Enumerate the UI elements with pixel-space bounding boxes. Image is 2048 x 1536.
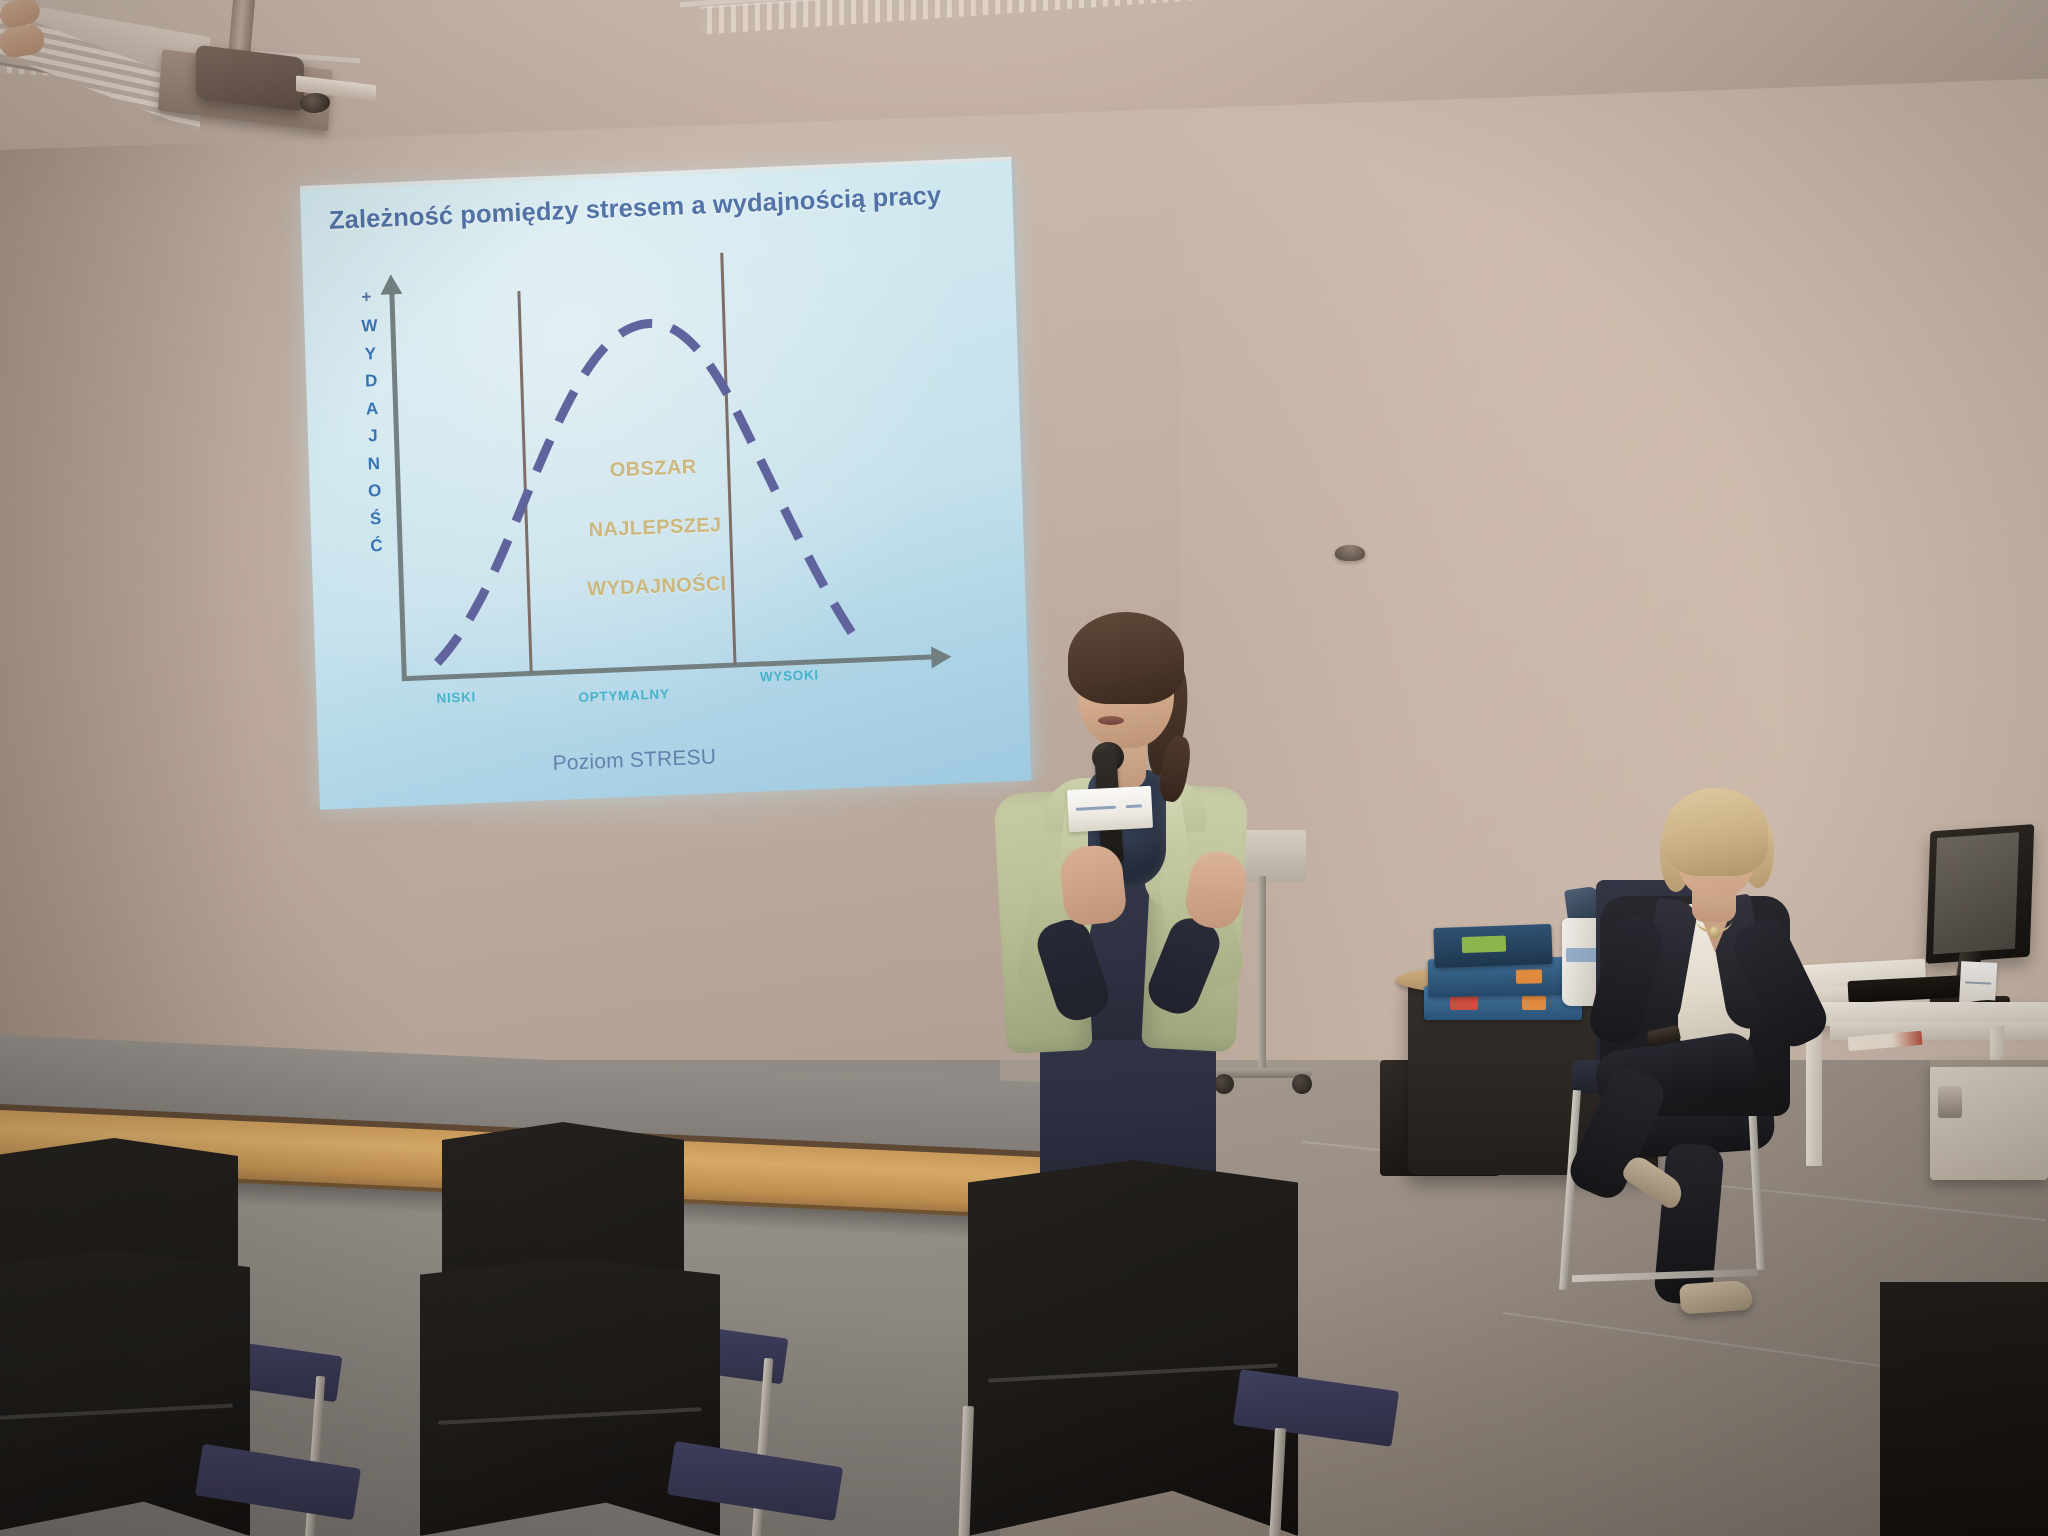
desk-leg-front: [1806, 1026, 1822, 1166]
audience-chair-front-left: [0, 1250, 250, 1536]
mic-flag-text-line-1: [1076, 806, 1116, 811]
x-tick-wysoki: WYSOKI: [760, 667, 819, 684]
trolley-wheel-right: [1292, 1074, 1312, 1094]
microphone-flag-card: [1067, 786, 1153, 832]
zone-line-1: NAJLEPSZEJ: [555, 513, 756, 544]
glove-box-orange-band-2: [1516, 969, 1542, 983]
flight-case-latch: [1938, 1086, 1962, 1118]
trolley-wheel-left: [1214, 1074, 1234, 1094]
seated-shoe-lower: [1679, 1280, 1753, 1315]
audience-chair-front-mid: [420, 1258, 720, 1536]
flight-case: [1930, 1060, 2048, 1180]
sanitizer-label: [1566, 948, 1600, 962]
monitor-screen: [1933, 832, 2019, 954]
glove-box-green-band: [1462, 936, 1507, 954]
flight-case-edge: [1930, 1060, 2048, 1067]
stress-performance-chart: + W Y D A J N O Ś Ć OBSZAR: [347, 248, 1001, 714]
x-tick-niski: NISKI: [436, 689, 476, 706]
black-counter-right: [1880, 1282, 2048, 1536]
smoke-detector: [1335, 545, 1365, 561]
glove-box-orange-band: [1522, 996, 1546, 1010]
presenter-mouth: [1098, 716, 1124, 725]
audience-chair-center: [968, 1160, 1298, 1536]
mic-flag-text-line-2: [1126, 804, 1142, 808]
name-card-text-line: [1965, 981, 1991, 984]
screenshot-root: Zależność pomiędzy stresem a wydajnością…: [0, 0, 2048, 1536]
presenter-hair: [1068, 612, 1184, 704]
glove-box-top: [1433, 924, 1552, 968]
ceiling-duct-grille-right: [700, 0, 1460, 35]
optimal-zone-text: OBSZAR NAJLEPSZEJ WYDAJNOŚCI: [553, 454, 759, 639]
zone-line-2: WYDAJNOŚCI: [557, 572, 758, 603]
equipment-trolley-pole: [1258, 876, 1266, 1076]
equipment-trolley-top: [1236, 830, 1306, 882]
computer-monitor: [1926, 824, 2035, 964]
chair-backrest: [968, 1160, 1298, 1536]
projection-screen: Zależność pomiędzy stresem a wydajnością…: [300, 161, 1031, 810]
seated-necklace-pendant: [1710, 926, 1720, 938]
seated-hair-top: [1664, 788, 1768, 876]
